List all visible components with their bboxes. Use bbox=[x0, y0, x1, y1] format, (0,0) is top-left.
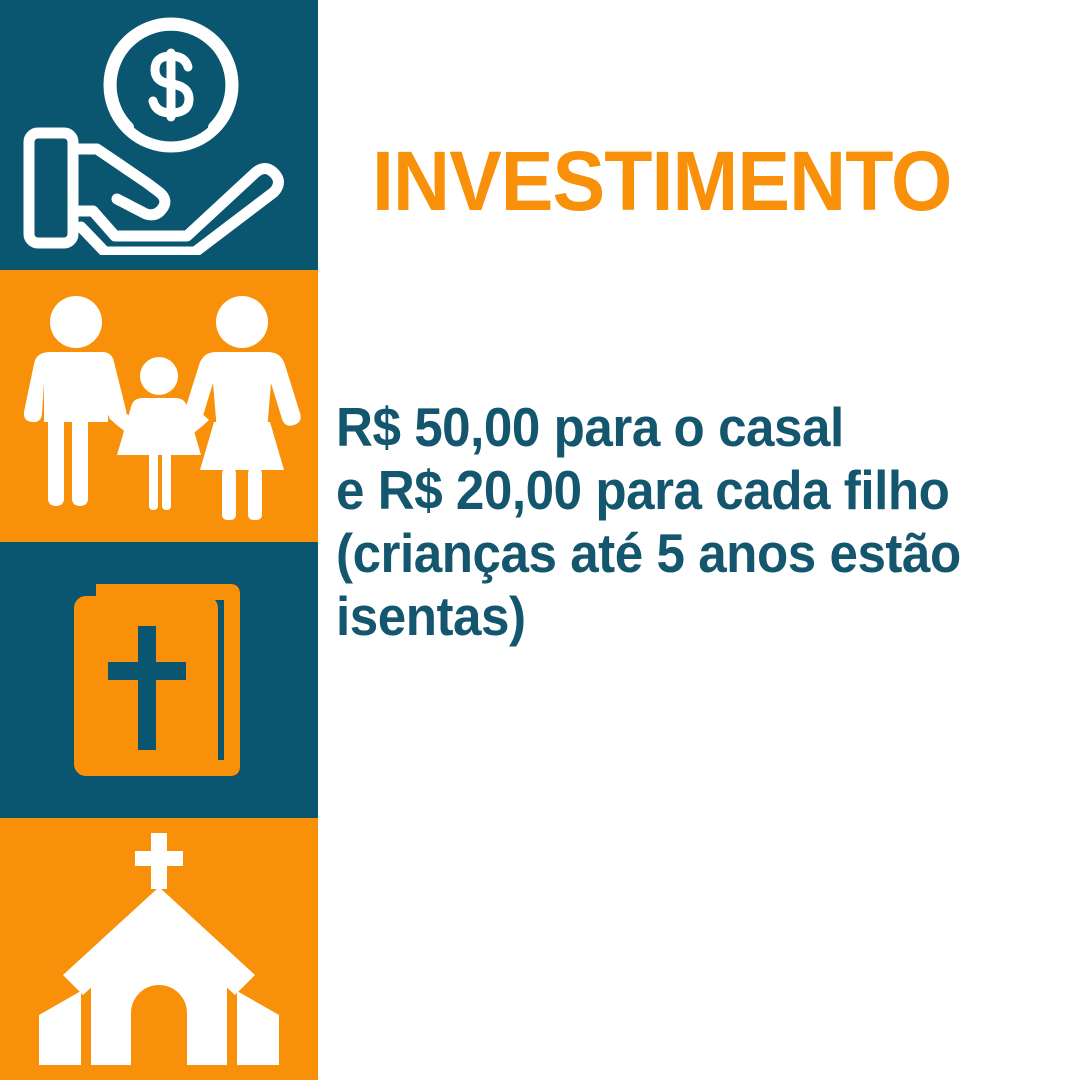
page-title: INVESTIMENTO bbox=[372, 133, 952, 229]
detail-line-1: R$ 50,00 para o casal bbox=[336, 396, 1028, 459]
investment-poster: INVESTIMENTO R$ 50,00 para o casal e R$ … bbox=[0, 0, 1080, 1080]
detail-line-3: (crianças até 5 anos estão bbox=[336, 522, 1028, 585]
hand-holding-dollar-coin-icon bbox=[19, 15, 299, 255]
icon-panel-bible bbox=[0, 542, 318, 818]
icon-panel-family bbox=[0, 270, 318, 542]
detail-line-2: e R$ 20,00 para cada filho bbox=[336, 459, 1028, 522]
icon-panel-church bbox=[0, 818, 318, 1080]
content-area: INVESTIMENTO R$ 50,00 para o casal e R$ … bbox=[318, 0, 1080, 1080]
bible-book-cross-icon bbox=[68, 574, 250, 786]
detail-line-4: isentas) bbox=[336, 585, 1028, 648]
icon-panel-money bbox=[0, 0, 318, 270]
investment-details-text: R$ 50,00 para o casal e R$ 20,00 para ca… bbox=[336, 396, 1080, 648]
icon-rail bbox=[0, 0, 318, 1080]
church-building-cross-icon bbox=[13, 829, 305, 1069]
family-parents-child-icon bbox=[16, 290, 302, 522]
